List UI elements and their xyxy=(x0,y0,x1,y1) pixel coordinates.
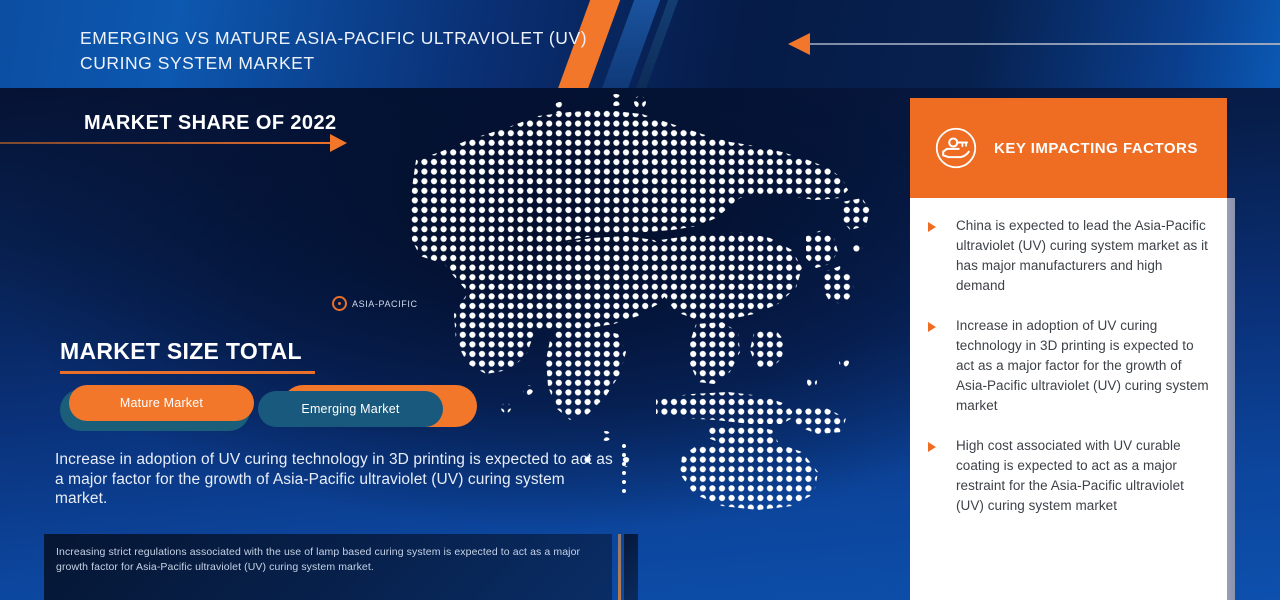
header-arrow-line xyxy=(809,43,1280,45)
bullet-arrow-icon xyxy=(928,322,944,332)
key-impacting-factors-panel: KEY IMPACTING FACTORS China is expected … xyxy=(910,98,1227,600)
market-size-legend: Mature Market Emerging Market xyxy=(60,385,480,435)
panel-header: KEY IMPACTING FACTORS xyxy=(910,98,1227,198)
footer-accent-block xyxy=(624,534,638,600)
footer-accent-bar xyxy=(618,534,621,600)
panel-body: China is expected to lead the Asia-Pacif… xyxy=(910,198,1227,516)
target-marker-icon xyxy=(332,296,347,311)
legend-label-emerging: Emerging Market xyxy=(301,402,399,416)
list-item: High cost associated with UV curable coa… xyxy=(928,436,1211,516)
page-title: EMERGING VS MATURE ASIA-PACIFIC ULTRAVIO… xyxy=(80,26,600,76)
header-arrow xyxy=(788,33,1280,49)
asia-pacific-marker: ASIA-PACIFIC xyxy=(332,296,418,311)
footer-band: Increasing strict regulations associated… xyxy=(44,534,612,600)
bullet-arrow-icon xyxy=(928,222,944,232)
market-share-title: MARKET SHARE OF 2022 xyxy=(84,112,337,135)
legend-label-mature: Mature Market xyxy=(120,396,203,410)
footer-text: Increasing strict regulations associated… xyxy=(56,545,604,575)
bullet-arrow-icon xyxy=(928,442,944,452)
infographic-root: EMERGING VS MATURE ASIA-PACIFIC ULTRAVIO… xyxy=(0,0,1280,600)
bullet-text: China is expected to lead the Asia-Pacif… xyxy=(956,216,1211,296)
hand-holding-key-icon xyxy=(934,126,978,170)
bullet-text: High cost associated with UV curable coa… xyxy=(956,436,1211,516)
panel-title: KEY IMPACTING FACTORS xyxy=(994,140,1198,157)
list-item: Increase in adoption of UV curing techno… xyxy=(928,316,1211,416)
panel-edge-accent xyxy=(1227,198,1235,600)
asia-pacific-dot-map xyxy=(410,90,870,510)
market-size-description: Increase in adoption of UV curing techno… xyxy=(55,450,617,509)
target-marker-center xyxy=(338,302,341,305)
left-arrow-icon xyxy=(788,33,810,55)
legend-pill-emerging[interactable]: Emerging Market xyxy=(258,391,443,427)
header-band: EMERGING VS MATURE ASIA-PACIFIC ULTRAVIO… xyxy=(0,0,1280,88)
decorative-dot-strip xyxy=(621,444,626,506)
bullet-text: Increase in adoption of UV curing techno… xyxy=(956,316,1211,416)
market-size-rule xyxy=(60,371,315,374)
legend-pill-mature[interactable]: Mature Market xyxy=(69,385,254,421)
asia-pacific-label: ASIA-PACIFIC xyxy=(352,299,418,309)
list-item: China is expected to lead the Asia-Pacif… xyxy=(928,216,1211,296)
right-arrow-icon xyxy=(330,134,347,152)
market-size-title: MARKET SIZE TOTAL xyxy=(60,338,302,365)
market-share-rule xyxy=(0,142,330,144)
